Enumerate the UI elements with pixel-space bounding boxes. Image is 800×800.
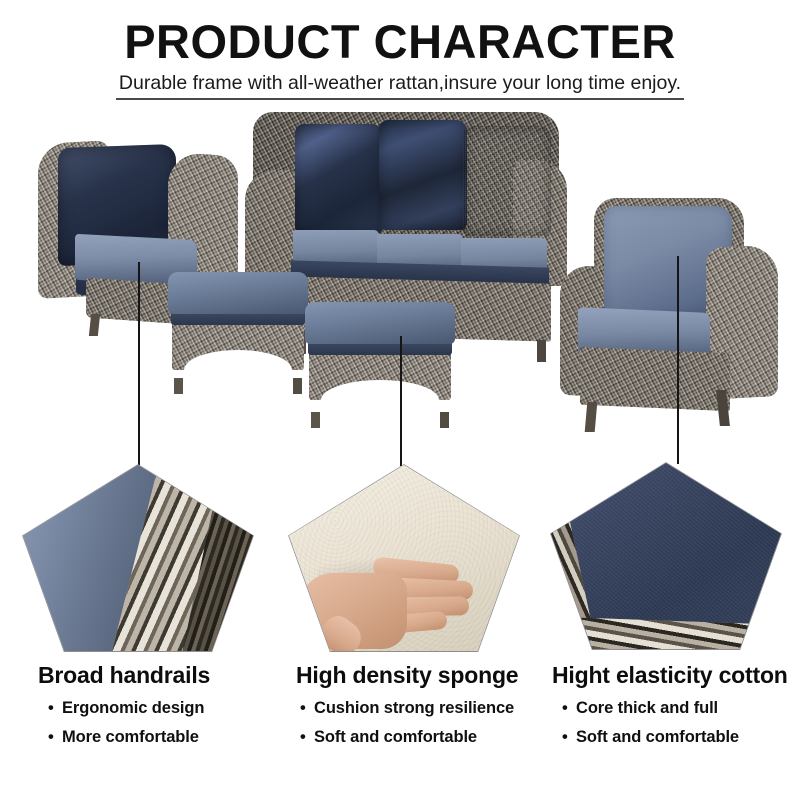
detail-photo-row (0, 462, 800, 652)
feature-3-bullet-2: • Soft and comfortable (562, 726, 800, 749)
bullet-icon: • (48, 726, 54, 749)
sofa-leg-right (537, 340, 546, 362)
ottoman-left-arch (184, 350, 292, 370)
ottoman-left-cushion (168, 272, 308, 314)
detail-1-image (23, 465, 253, 651)
feature-2-bullet-1: • Cushion strong resilience (300, 697, 548, 720)
feature-1-bullet-1-text: Ergonomic design (62, 699, 204, 717)
callout-line-handrail (138, 262, 140, 474)
ottoman-left (168, 272, 308, 384)
feature-1-title: Broad handrails (38, 662, 288, 688)
detail-2-hand (299, 551, 489, 651)
ottoman-right-cushion (305, 302, 455, 344)
ottoman-right-leg-b (440, 412, 449, 428)
feature-3-bullet-1-text: Core thick and full (576, 699, 718, 717)
detail-broad-handrails (22, 464, 254, 652)
subtitle-group: Durable frame with all-weather rattan,in… (116, 72, 684, 100)
feature-1-bullet-2: • More comfortable (48, 726, 288, 749)
feature-3-bullet-1: • Core thick and full (562, 697, 800, 720)
bullet-icon: • (562, 697, 568, 720)
feature-2-list: • Cushion strong resilience • Soft and c… (300, 697, 548, 749)
feature-2-title: High density sponge (296, 662, 548, 688)
feature-column-1: Broad handrails • Ergonomic design • Mor… (38, 662, 288, 755)
feature-row: Broad handrails • Ergonomic design • Mor… (0, 662, 800, 792)
feature-1-bullet-1: • Ergonomic design (48, 697, 288, 720)
feature-2-bullet-1-text: Cushion strong resilience (314, 699, 514, 717)
feature-1-list: • Ergonomic design • More comfortable (48, 697, 288, 749)
ottoman-right (305, 302, 455, 418)
sofa-armrest-left (245, 170, 297, 288)
armchair-right-leg-front (585, 402, 598, 432)
sofa-back-cushion-1 (295, 124, 383, 234)
armchair-right (560, 194, 780, 442)
callout-line-sponge (400, 336, 402, 466)
armchair-right-base (580, 347, 730, 412)
sofa-back-cushion-3 (463, 126, 551, 236)
page-subtitle: Durable frame with all-weather rattan,in… (116, 72, 684, 97)
feature-column-2: High density sponge • Cushion strong res… (296, 662, 548, 755)
feature-column-3: Hight elasticity cotton • Core thick and… (552, 662, 800, 755)
page-title: PRODUCT CHARACTER (0, 18, 800, 67)
armchair-left-leg-front (89, 314, 100, 336)
detail-high-elasticity-cotton (550, 462, 782, 650)
subtitle-underline (116, 98, 684, 100)
bullet-icon: • (300, 697, 306, 720)
product-infographic: PRODUCT CHARACTER Durable frame with all… (0, 0, 800, 800)
header: PRODUCT CHARACTER Durable frame with all… (0, 18, 800, 100)
ottoman-right-base (309, 352, 451, 400)
feature-1-bullet-2-text: More comfortable (62, 728, 199, 746)
feature-2-bullet-2: • Soft and comfortable (300, 726, 548, 749)
detail-3-image (551, 463, 781, 649)
bullet-icon: • (300, 726, 306, 749)
detail-2-image (289, 465, 519, 651)
bullet-icon: • (562, 726, 568, 749)
feature-3-list: • Core thick and full • Soft and comfort… (562, 697, 800, 749)
feature-3-bullet-2-text: Soft and comfortable (576, 728, 739, 746)
feature-3-title: Hight elasticity cotton (552, 662, 800, 688)
ottoman-left-base (172, 322, 304, 370)
ottoman-right-leg-a (311, 412, 320, 428)
ottoman-left-leg-a (174, 378, 183, 394)
bullet-icon: • (48, 697, 54, 720)
detail-high-density-sponge (288, 464, 520, 652)
sofa-back-cushion-2 (379, 120, 467, 230)
callout-line-cotton (677, 256, 679, 464)
ottoman-right-arch (321, 380, 439, 400)
ottoman-left-leg-b (293, 378, 302, 394)
feature-2-bullet-2-text: Soft and comfortable (314, 728, 477, 746)
